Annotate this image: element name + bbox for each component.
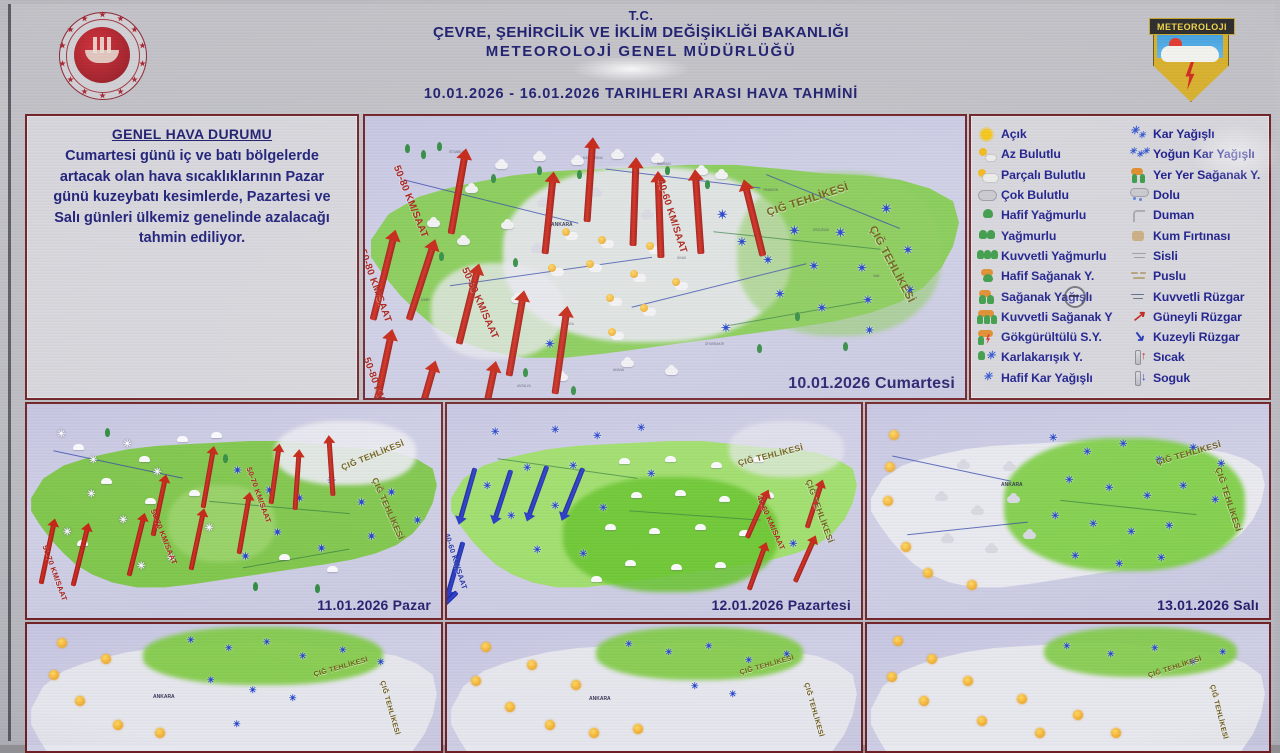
city-label-samsun: SAMSUN (657, 162, 671, 166)
weather-icon-snow: ✳ (1065, 476, 1073, 486)
ministry-seal-icon (41, 10, 159, 102)
legend-label: Sıcak (1153, 350, 1185, 364)
legend-item-saganak-yagisli[interactable]: Sağanak Yağışlı (977, 286, 1129, 306)
weather-icon-snow: ✳ (263, 638, 271, 647)
legend-label: Kar Yağışlı (1153, 127, 1215, 141)
map-date-sunday: 11.01.2026 Pazar (317, 597, 431, 613)
weather-icon-snow: ✳ (579, 550, 587, 560)
legend-label: Hafif Yağmurlu (1001, 208, 1086, 222)
heavy-snow-icon: ✳✳✳ (1129, 146, 1150, 162)
map-canvas-saturday: 50-80 KM/SAAT 50-80 KM/SAAT 50-80 KM/SAA… (365, 116, 965, 398)
weather-icon-rain (105, 428, 110, 437)
weather-icon-rain (421, 150, 426, 159)
north-green-zone (143, 627, 383, 685)
weather-icon-sun (1073, 710, 1083, 720)
city-label-diyarbakir: DİYARBAKIR (705, 342, 724, 346)
legend-label: Kuzeyli Rüzgar (1153, 330, 1240, 344)
weather-icon-snow-cloud (711, 462, 722, 468)
weather-icon-snow-white: ✳ (89, 456, 97, 466)
weather-icon-sun (883, 496, 893, 506)
legend-panel: Açık Az Bulutlu Parçalı Bulutlu Çok Bulu… (969, 114, 1271, 400)
weather-icon-snow: ✴ (817, 302, 827, 314)
weather-icon-snow-cloud (625, 560, 636, 566)
weather-icon-snow: ✳ (1049, 434, 1057, 444)
map-thursday-cropped[interactable]: ÇIĞ TEHLİKESİ ÇIĞ TEHLİKESİ ✳ ✳ ✳ ✳ ✳ ✳ … (445, 622, 863, 753)
weather-icon-snow: ✳ (745, 656, 753, 665)
weather-icon-rain (795, 312, 800, 321)
weather-icon-snow: ✴ (545, 338, 555, 350)
weather-icon-rain (523, 368, 528, 377)
weather-icon-cloud (1007, 496, 1020, 503)
weather-icon-snow-cloud (715, 562, 726, 568)
weather-icon-partly-cloudy (551, 268, 564, 276)
weather-icon-sun (963, 676, 973, 686)
weather-icon-snow: ✴ (241, 552, 250, 563)
weather-icon-snow: ✳ (533, 546, 541, 556)
weather-icon-sun (571, 680, 581, 690)
legend-item-duman[interactable]: Duman (1129, 205, 1263, 225)
legend-item-kar-yagisli[interactable]: ✳✳ Kar Yağışlı (1129, 124, 1263, 144)
weather-icon-snow: ✳ (691, 682, 699, 691)
weather-icon-sun (481, 642, 491, 652)
south-wind-arrow-icon: ↗ (1129, 309, 1150, 325)
weather-icon-snow: ✳ (249, 686, 257, 695)
weather-icon-snow: ✳ (1089, 520, 1097, 530)
weather-icon-sun (633, 724, 643, 734)
legend-label: Karlakarışık Y. (1001, 350, 1083, 364)
city-label-erzurum: ERZURUM (813, 228, 829, 232)
weather-icon-snow: ✴ (789, 224, 800, 237)
weather-icon-snow-white: ✳ (57, 430, 65, 440)
weather-icon-snow-cloud (605, 524, 616, 530)
meteoroloji-logo-text: METEOROLOJI (1149, 18, 1235, 35)
legend-item-yagmurlu[interactable]: Yağmurlu (977, 225, 1129, 245)
weather-icon-sun (927, 654, 937, 664)
weather-icon-rain (513, 258, 518, 267)
weather-icon-snow-cloud (101, 478, 112, 484)
weather-icon-cloud (495, 162, 508, 169)
weather-icon-snow-cloud (145, 498, 156, 504)
weather-icon-sun (57, 638, 67, 648)
sandstorm-icon (1129, 228, 1150, 244)
weather-icon-snow: ✳ (377, 658, 385, 667)
legend-item-az-bulutlu[interactable]: Az Bulutlu (977, 144, 1129, 164)
weather-icon-snow: ✴ (881, 202, 892, 215)
weather-icon-snow-cloud (279, 554, 290, 560)
weather-icon-cloud (985, 546, 998, 553)
weather-icon-snow: ✳ (705, 642, 713, 651)
weather-icon-snow-white: ✳ (137, 562, 145, 572)
weather-icon-snow: ✳ (1051, 512, 1059, 522)
weather-icon-snow-cloud (675, 490, 686, 496)
weather-icon-partly-cloudy (589, 264, 602, 272)
weather-icon-snow-cloud (189, 490, 200, 496)
weather-icon-cloud (957, 462, 970, 469)
wind-arrow-red (633, 164, 636, 246)
weather-icon-sun (893, 636, 903, 646)
north-wind-arrow-icon: ↘ (1129, 329, 1150, 345)
map-date-tuesday: 13.01.2026 Salı (1157, 597, 1259, 613)
weather-icon-cloud (533, 154, 546, 161)
legend-label: Kuvvetli Rüzgar (1153, 290, 1244, 304)
heavy-shower-icon (977, 309, 998, 325)
weather-icon-snow: ✳ (1219, 648, 1227, 657)
city-label-sivas: SİVAS (677, 256, 686, 260)
weather-icon-snow: ✳ (1127, 528, 1135, 538)
map-canvas-monday: 40-60 KM/SAAT 40-60 KM/SAAT ÇIĞ TEHLİKES… (447, 404, 861, 618)
weather-icon-sun (977, 716, 987, 726)
weather-icon-sun (49, 670, 59, 680)
weather-icon-snow-white: ✳ (119, 516, 127, 526)
weather-icon-snow-cloud (591, 576, 602, 582)
light-shower-icon (977, 268, 998, 284)
weather-icon-snow: ✴ (413, 516, 422, 527)
weather-icon-partly-cloudy (611, 332, 624, 340)
legend-label: Parçalı Bulutlu (1001, 168, 1086, 182)
weather-icon-snow: ✳ (1119, 440, 1127, 450)
weather-icon-snow: ✳ (1157, 554, 1165, 564)
legend-item-yer-yer-saganak[interactable]: Yer Yer Sağanak Y. (1129, 165, 1263, 185)
weather-icon-partly-cloudy (565, 232, 578, 240)
weather-icon-partly-cloudy (609, 298, 622, 306)
smoke-icon (1129, 207, 1150, 223)
sleet-icon: ✳ (977, 349, 998, 365)
weather-icon-snow: ✳ (491, 428, 499, 438)
legend-right-column: ✳✳ Kar Yağışlı ✳✳✳ Yoğun Kar Yağışlı Yer… (1129, 124, 1263, 390)
legend-label: Hafif Kar Yağışlı (1001, 371, 1093, 385)
weather-icon-snow: ✳ (1083, 448, 1091, 458)
legend-label: Kum Fırtınası (1153, 229, 1230, 243)
weather-icon-snow: ✳ (593, 432, 601, 442)
weather-icon-snow: ✴ (835, 226, 846, 239)
weather-icon-sun (1111, 728, 1121, 738)
city-label-izmir: İZMİR (421, 298, 430, 302)
weather-icon-snow: ✳ (729, 690, 737, 699)
map-monday[interactable]: 40-60 KM/SAAT 40-60 KM/SAAT ÇIĞ TEHLİKES… (445, 402, 863, 620)
hail-icon (1129, 187, 1150, 203)
light-snow-icon: ✳ (977, 370, 998, 386)
weather-icon-snow: ✳ (289, 694, 297, 703)
weather-icon-snow-white: ✳ (123, 440, 131, 450)
weather-icon-sun (113, 720, 123, 730)
weather-icon-cloud (1023, 532, 1036, 539)
cold-thermometer-icon: ↓ (1129, 370, 1150, 386)
legend-left-column: Açık Az Bulutlu Parçalı Bulutlu Çok Bulu… (977, 124, 1129, 390)
thunderstorm-icon (977, 329, 998, 345)
legend-label: Yağmurlu (1001, 229, 1056, 243)
summary-text: Cumartesi günü iç ve batı bölgelerde art… (41, 146, 343, 249)
weather-icon-snow: ✳ (569, 462, 577, 472)
weather-icon-sun (505, 702, 515, 712)
header-titles: T.C. ÇEVRE, ŞEHİRCİLİK VE İKLİM DEĞİŞİKL… (311, 8, 971, 61)
weather-icon-snow: ✴ (357, 498, 366, 509)
legend-item-guneyli-ruzgar[interactable]: ↗ Güneyli Rüzgar (1129, 307, 1263, 327)
legend-item-yogun-kar[interactable]: ✳✳✳ Yoğun Kar Yağışlı (1129, 144, 1263, 164)
map-canvas-wednesday: ÇIĞ TEHLİKESİ ÇIĞ TEHLİKESİ ✳ ✳ ✳ ✳ ✳ ✳ … (27, 624, 441, 751)
city-label-adana: ADANA (613, 368, 624, 372)
weather-icon-snow: ✳ (483, 482, 491, 492)
weather-icon-snow: ✳ (599, 504, 607, 514)
map-sunday[interactable]: 50-70 KM/SAAT 50-70 KM/SAAT 50-70 KM/SAA… (25, 402, 443, 620)
weather-icon-cloud (715, 172, 728, 179)
weather-icon-snow-white: ✳ (87, 490, 95, 500)
legend-item-parcali-bulutlu[interactable]: Parçalı Bulutlu (977, 165, 1129, 185)
weather-icon-sun (919, 696, 929, 706)
weather-icon-rain (439, 252, 444, 261)
header-ministry-line1: ÇEVRE, ŞEHİRCİLİK VE İKLİM DEĞİŞİKLİĞİ B… (311, 23, 971, 42)
weather-icon-snow: ✳ (225, 644, 233, 653)
east-green-zone (1004, 438, 1245, 571)
weather-icon-snow-cloud (649, 528, 660, 534)
weather-icon-rain (253, 582, 258, 591)
weather-icon-cloud (665, 368, 678, 375)
legend-label: Çok Bulutlu (1001, 188, 1069, 202)
weather-icon-snow: ✳ (637, 424, 645, 434)
weather-icon-snow-cloud (211, 432, 222, 438)
sun-icon (977, 126, 998, 142)
weather-icon-rain (705, 180, 710, 189)
weather-icon-cloud (621, 360, 634, 367)
weather-icon-snow: ✳ (1165, 522, 1173, 532)
weather-icon-snow: ✴ (857, 262, 867, 274)
weather-icon-cloud (641, 212, 654, 219)
weather-icon-sun (887, 672, 897, 682)
west-snow-zone (431, 263, 563, 359)
city-label-ankara: ANKARA (589, 696, 611, 702)
weather-icon-snow: ✴ (273, 528, 282, 539)
sun-small-cloud-icon (977, 146, 998, 162)
legend-label: Kuvvetli Sağanak Y (1001, 310, 1112, 324)
legend-item-karlakarisik[interactable]: ✳ Karlakarışık Y. (977, 347, 1129, 367)
weather-icon-snow: ✴ (233, 466, 242, 477)
weather-icon-sun (101, 654, 111, 664)
legend-label: Güneyli Rüzgar (1153, 310, 1242, 324)
legend-item-acik[interactable]: Açık (977, 124, 1129, 144)
city-label-ankara: ANKARA (153, 694, 175, 700)
meteoroloji-shield-icon: METEOROLOJI (1145, 10, 1237, 104)
map-canvas-tuesday: ÇIĞ TEHLİKESİ ÇIĞ TEHLİKESİ ✳ ✳ ✳ ✳ ✳ ✳ … (867, 404, 1269, 618)
weather-icon-snow-cloud (631, 492, 642, 498)
map-canvas-thursday: ÇIĞ TEHLİKESİ ÇIĞ TEHLİKESİ ✳ ✳ ✳ ✳ ✳ ✳ … (447, 624, 861, 751)
legend-label: Soguk (1153, 371, 1190, 385)
city-label-antalya: ANTALYA (517, 384, 531, 388)
weather-icon-rain (757, 344, 762, 353)
legend-label: Kuvvetli Yağmurlu (1001, 249, 1106, 263)
legend-label: Puslu (1153, 269, 1186, 283)
weather-icon-snow-cloud (327, 566, 338, 572)
weather-icon-sun (527, 660, 537, 670)
summary-title: GENEL HAVA DURUMU (27, 126, 357, 142)
weather-icon-sun (885, 462, 895, 472)
map-canvas-sunday: 50-70 KM/SAAT 50-70 KM/SAAT 50-70 KM/SAA… (27, 404, 441, 618)
weather-icon-sun (545, 720, 555, 730)
scattered-shower-icon (1129, 167, 1150, 183)
weather-icon-sun (471, 676, 481, 686)
weather-icon-snow: ✴ (317, 544, 326, 555)
legend-item-soguk[interactable]: ↓ Soguk (1129, 368, 1263, 388)
weather-icon-snow: ✳ (665, 648, 673, 657)
weather-icon-snow: ✳ (299, 652, 307, 661)
weather-icon-rain (843, 342, 848, 351)
weather-icon-partly-cloudy (633, 274, 646, 282)
heavy-rain-icon (977, 248, 998, 264)
weather-icon-rain (571, 386, 576, 395)
weather-icon-rain (537, 166, 542, 175)
weather-icon-snow: ✴ (737, 236, 747, 248)
weather-icon-cloud (465, 186, 478, 193)
north-green-zone (1044, 627, 1237, 678)
map-date-monday: 12.01.2026 Pazartesi (712, 597, 851, 613)
weather-icon-snow: ✳ (1107, 650, 1115, 659)
weather-icon-snow: ✴ (367, 532, 376, 543)
general-weather-summary-panel: GENEL HAVA DURUMU Cumartesi günü iç ve b… (25, 114, 359, 400)
legend-label: Az Bulutlu (1001, 147, 1061, 161)
weather-icon-snow: ✴ (721, 322, 731, 334)
legend-item-cok-bulutlu[interactable]: Çok Bulutlu (977, 185, 1129, 205)
weather-icon-cloud (1003, 464, 1016, 471)
weather-icon-rain (223, 454, 228, 463)
weather-icon-cloud (935, 494, 948, 501)
legend-item-hafif-saganak[interactable]: Hafif Sağanak Y. (977, 266, 1129, 286)
legend-item-sicak[interactable]: ↑ Sıcak (1129, 347, 1263, 367)
map-date-saturday: 10.01.2026 Cumartesi (788, 375, 955, 393)
weather-icon-snow-cloud (719, 496, 730, 502)
weather-icon-snow: ✴ (809, 260, 819, 272)
weather-icon-snow: ✳ (1063, 642, 1071, 651)
weather-icon-snow-cloud (139, 456, 150, 462)
weather-icon-partly-cloudy (643, 308, 656, 316)
weather-icon-snow: ✳ (625, 640, 633, 649)
snow-icon: ✳✳ (1129, 126, 1150, 142)
forecast-slide: T.C. ÇEVRE, ŞEHİRCİLİK VE İKLİM DEĞİŞİKL… (8, 4, 1275, 741)
weather-icon-snow: ✴ (775, 288, 785, 300)
weather-icon-sun (967, 580, 977, 590)
legend-item-kuvvetli-saganak[interactable]: Kuvvetli Sağanak Y (977, 307, 1129, 327)
partly-cloudy-icon (977, 167, 998, 183)
weather-icon-cloud (971, 508, 984, 515)
map-wednesday-cropped[interactable]: ÇIĞ TEHLİKESİ ÇIĞ TEHLİKESİ ✳ ✳ ✳ ✳ ✳ ✳ … (25, 622, 443, 753)
weather-icon-snow: ✳ (1151, 644, 1159, 653)
weather-icon-snow: ✴ (903, 244, 913, 256)
weather-icon-snow: ✳ (789, 540, 797, 550)
legend-label: Yer Yer Sağanak Y. (1153, 168, 1260, 182)
weather-icon-rain (491, 174, 496, 183)
weather-icon-snow: ✴ (763, 254, 773, 266)
legend-label: Gökgürültülü S.Y. (1001, 330, 1102, 344)
legend-label: Dolu (1153, 188, 1180, 202)
weather-icon-snow-white: ✳ (205, 524, 213, 534)
weather-icon-sun (155, 728, 165, 738)
weather-icon-cloud (941, 536, 954, 543)
weather-icon-rain (315, 584, 320, 593)
weather-icon-snow: ✳ (1105, 484, 1113, 494)
legend-label: Sisli (1153, 249, 1178, 263)
weather-icon-sun (1035, 728, 1045, 738)
north-green-zone (596, 627, 803, 680)
legend-label: Hafif Sağanak Y. (1001, 269, 1094, 283)
weather-icon-cloud (427, 220, 440, 227)
map-canvas-friday: ÇIĞ TEHLİKESİ ÇIĞ TEHLİKESİ ✳ ✳ ✳ ✳ ✳ (867, 624, 1269, 751)
weather-icon-snow: ✳ (1143, 492, 1151, 502)
weather-icon-snow: ✳ (187, 636, 195, 645)
weather-icon-snow: ✳ (523, 464, 531, 474)
rain-icon (977, 228, 998, 244)
weather-icon-snow: ✳ (647, 470, 655, 480)
weather-icon-snow: ✳ (1179, 482, 1187, 492)
weather-icon-snow: ✳ (551, 426, 559, 436)
shower-icon (977, 289, 998, 305)
map-tuesday[interactable]: ÇIĞ TEHLİKESİ ÇIĞ TEHLİKESİ ✳ ✳ ✳ ✳ ✳ ✳ … (865, 402, 1271, 620)
weather-icon-snow: ✳ (233, 720, 241, 729)
legend-item-dolu[interactable]: Dolu (1129, 185, 1263, 205)
overcast-icon (977, 187, 998, 203)
legend-item-kum-firtinasi[interactable]: Kum Fırtınası (1129, 225, 1263, 245)
legend-label: Yoğun Kar Yağışlı (1153, 147, 1255, 161)
weather-icon-sun (1017, 694, 1027, 704)
weather-icon-sun (589, 728, 599, 738)
weather-icon-sun (923, 568, 933, 578)
header: T.C. ÇEVRE, ŞEHİRCİLİK VE İKLİM DEĞİŞİKL… (11, 4, 1275, 112)
weather-icon-snow-cloud (73, 444, 84, 450)
weather-icon-rain (577, 170, 582, 179)
weather-icon-snow: ✳ (1115, 560, 1123, 570)
header-ministry-line2: METEOROLOJİ GENEL MÜDÜRLÜĞÜ (311, 42, 971, 61)
hot-thermometer-icon: ↑ (1129, 349, 1150, 365)
city-label-ankara: ANKARA (1001, 482, 1023, 488)
legend-item-hafif-kar[interactable]: ✳ Hafif Kar Yağışlı (977, 368, 1129, 388)
weather-icon-snow: ✳ (1071, 552, 1079, 562)
weather-icon-rain (405, 144, 410, 153)
legend-item-sisli[interactable]: Sisli (1129, 246, 1263, 266)
weather-icon-sun (901, 542, 911, 552)
map-friday-cropped[interactable]: ÇIĞ TEHLİKESİ ÇIĞ TEHLİKESİ ✳ ✳ ✳ ✳ ✳ (865, 622, 1271, 753)
weather-icon-snow-white: ✳ (63, 528, 71, 538)
legend-label: Açık (1001, 127, 1027, 141)
haze-icon (1129, 268, 1150, 284)
weather-icon-snow: ✳ (507, 512, 515, 522)
header-tc: T.C. (311, 8, 971, 23)
fog-icon (1129, 248, 1150, 264)
screen-photo: T.C. ÇEVRE, ŞEHİRCİLİK VE İKLİM DEĞİŞİKL… (0, 0, 1280, 745)
weather-icon-snow: ✴ (865, 326, 874, 337)
weather-icon-snow: ✳ (339, 646, 347, 655)
map-saturday[interactable]: 50-80 KM/SAAT 50-80 KM/SAAT 50-80 KM/SAA… (363, 114, 967, 400)
legend-label: Duman (1153, 208, 1194, 222)
weather-icon-snow: ✴ (863, 294, 873, 306)
city-label-trabzon: TRABZON (763, 188, 778, 192)
weather-icon-snow-cloud (619, 458, 630, 464)
weather-icon-sun (75, 696, 85, 706)
legend-item-hafif-yagmurlu[interactable]: Hafif Yağmurlu (977, 205, 1129, 225)
city-label-ankara: ANKARA (551, 222, 573, 228)
weather-icon-snow-cloud (665, 456, 676, 462)
legend-item-kuvvetli-yagmurlu[interactable]: Kuvvetli Yağmurlu (977, 246, 1129, 266)
weather-icon-snow: ✳ (1211, 496, 1219, 506)
header-date-range: 10.01.2026 - 16.01.2026 TARIHLERI ARASI … (311, 86, 971, 102)
strong-wind-icon (1129, 289, 1150, 305)
weather-icon-rain (437, 142, 442, 151)
weather-icon-snow: ✳ (207, 676, 215, 685)
weather-icon-snow-cloud (695, 524, 706, 530)
city-label-van: VAN (873, 274, 879, 278)
weather-icon-cloud (501, 222, 514, 229)
legend-item-gokgurultulu[interactable]: Gökgürültülü S.Y. (977, 327, 1129, 347)
mouse-cursor (1064, 286, 1086, 308)
legend-item-puslu[interactable]: Puslu (1129, 266, 1263, 286)
legend-item-kuvvetli-ruzgar[interactable]: Kuvvetli Rüzgar (1129, 286, 1263, 306)
legend-item-kuzeyli-ruzgar[interactable]: ↘ Kuzeyli Rüzgar (1129, 327, 1263, 347)
weather-icon-partly-cloudy (675, 282, 688, 290)
